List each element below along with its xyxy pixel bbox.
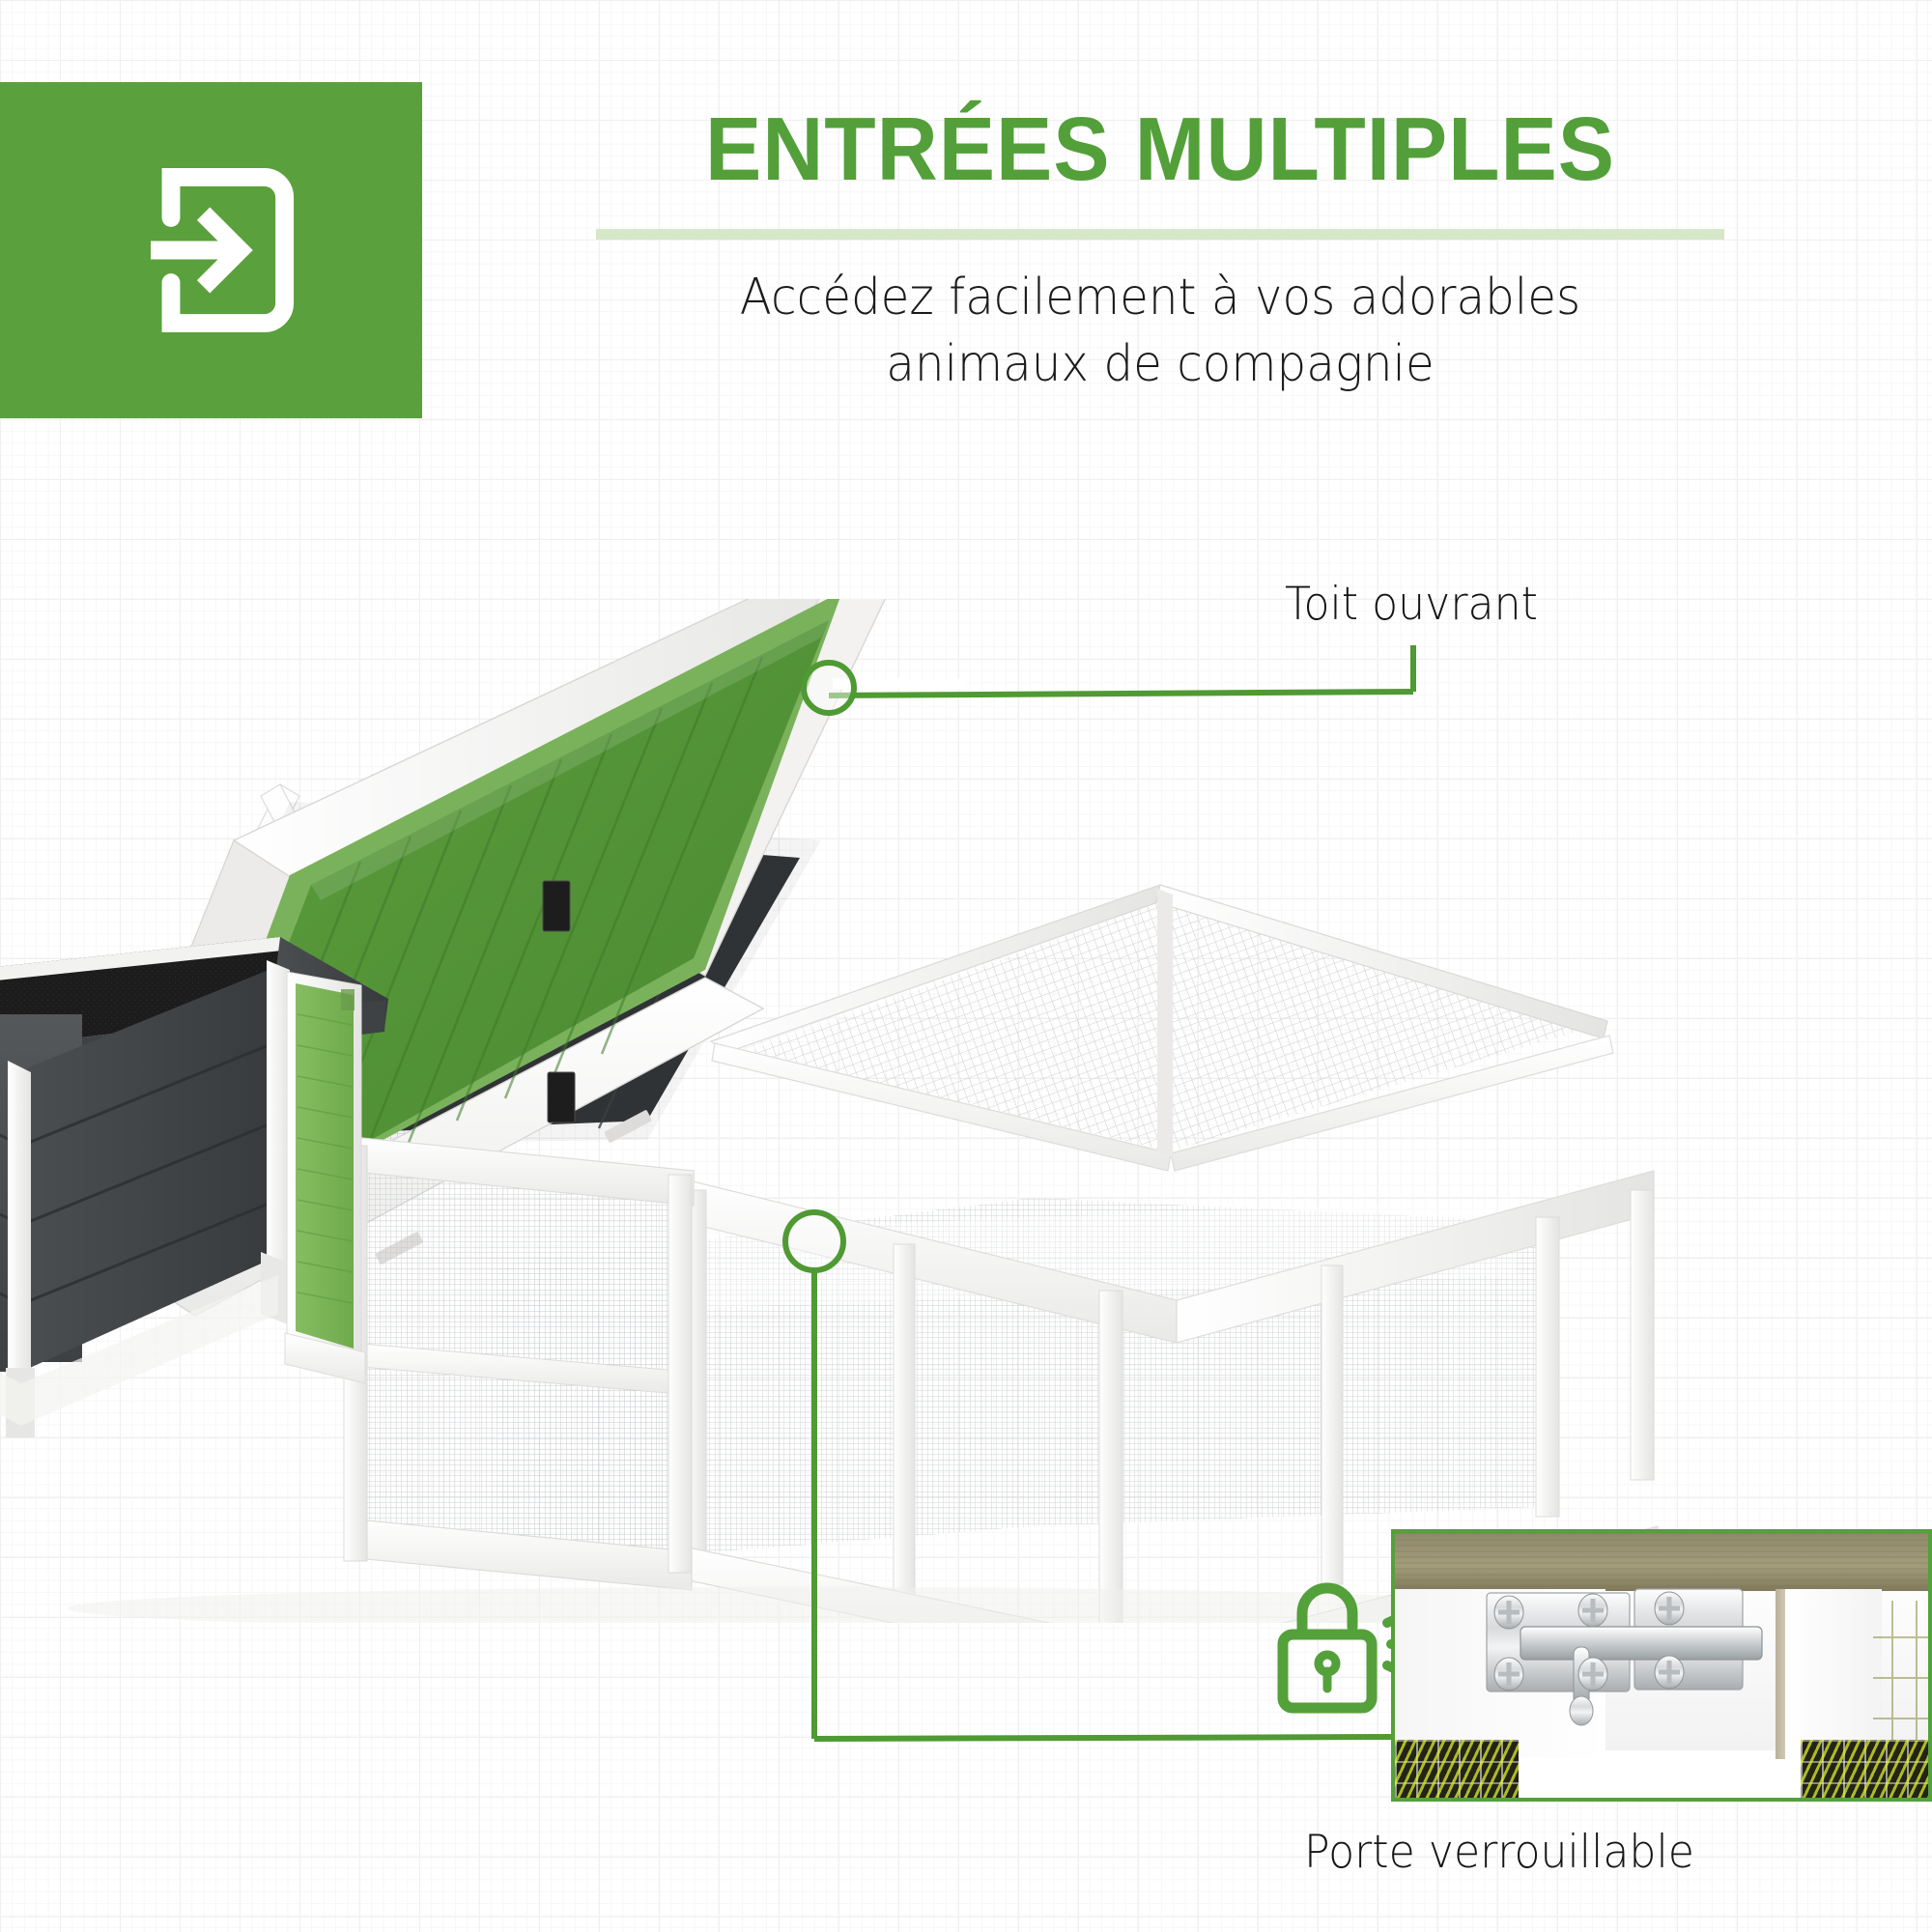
header-text-block: ENTRÉES MULTIPLES Accédez facilement à v…	[455, 104, 1865, 398]
title-divider	[596, 229, 1724, 240]
inset-caption: Porte verrouillable	[1304, 1826, 1694, 1879]
green-side-door[interactable]	[285, 972, 365, 1383]
subtitle-line-2: animaux de compagnie	[504, 331, 1816, 398]
page-title: ENTRÉES MULTIPLES	[497, 104, 1823, 194]
page-subtitle: Accédez facilement à vos adorables anima…	[504, 265, 1816, 398]
product-illustration	[0, 599, 1739, 1623]
callout-label-roof: Toit ouvrant	[1285, 578, 1538, 631]
subtitle-line-1: Accédez facilement à vos adorables	[504, 265, 1816, 331]
slide-bolt-latch	[1395, 1533, 1932, 1802]
latch-leader-line-horizontal	[814, 1737, 1393, 1739]
enter-arrow-icon	[110, 149, 313, 352]
enter-arrow-icon-badge	[0, 82, 422, 418]
lockable-door-inset-photo	[1391, 1529, 1932, 1802]
